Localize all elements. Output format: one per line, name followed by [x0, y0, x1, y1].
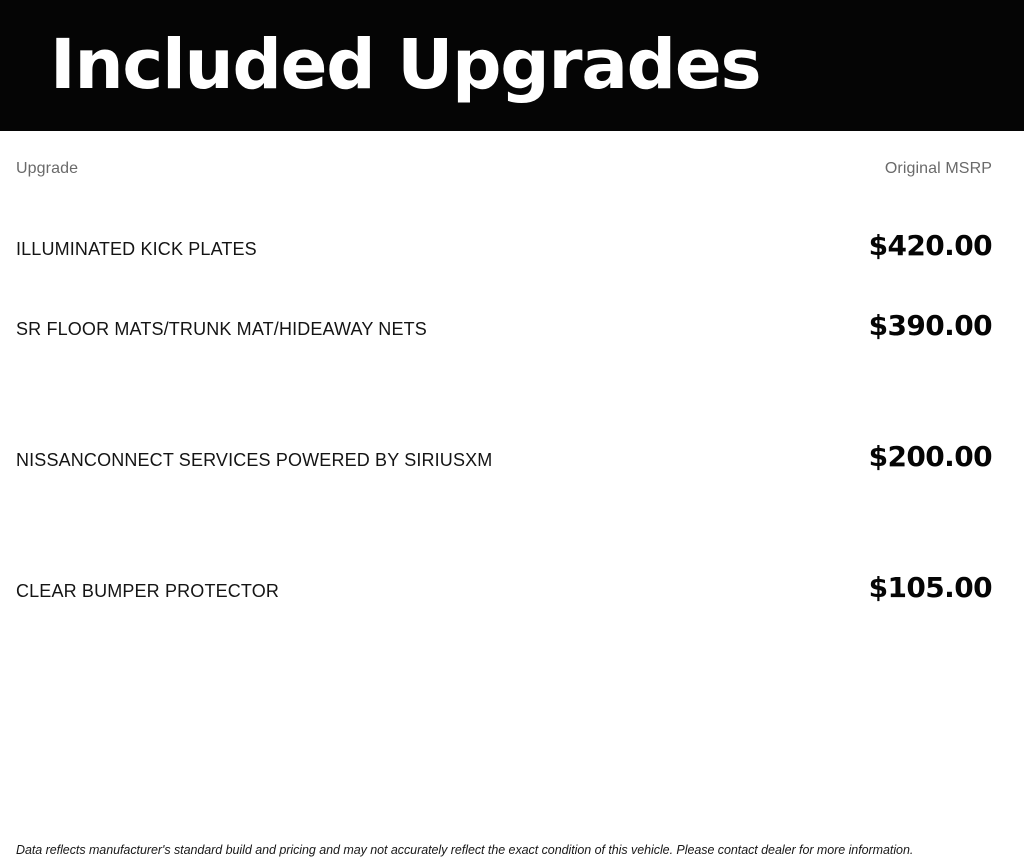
disclaimer-text: Data reflects manufacturer's standard bu…	[16, 843, 992, 858]
column-header-original-msrp: Original MSRP	[885, 160, 992, 178]
upgrade-price: $420.00	[869, 229, 992, 262]
upgrade-price: $105.00	[869, 571, 992, 604]
table-row: CLEAR BUMPER PROTECTOR $105.00	[16, 571, 992, 702]
upgrades-row-list: ILLUMINATED KICK PLATES $420.00 SR FLOOR…	[16, 178, 992, 702]
upgrade-name: CLEAR BUMPER PROTECTOR	[16, 581, 279, 602]
upgrade-name: ILLUMINATED KICK PLATES	[16, 239, 257, 260]
page-header-banner: Included Upgrades	[0, 0, 1024, 131]
table-row: NISSANCONNECT SERVICES POWERED BY SIRIUS…	[16, 440, 992, 571]
table-row: ILLUMINATED KICK PLATES $420.00	[16, 178, 992, 309]
column-header-upgrade: Upgrade	[16, 160, 78, 178]
page-title: Included Upgrades	[50, 31, 760, 100]
included-upgrades-page: Included Upgrades Upgrade Original MSRP …	[0, 0, 1024, 768]
upgrades-table: Upgrade Original MSRP ILLUMINATED KICK P…	[0, 131, 1024, 768]
upgrade-name: SR FLOOR MATS/TRUNK MAT/HIDEAWAY NETS	[16, 319, 427, 340]
upgrade-price: $200.00	[869, 440, 992, 473]
upgrade-name: NISSANCONNECT SERVICES POWERED BY SIRIUS…	[16, 450, 492, 471]
upgrade-price: $390.00	[869, 309, 992, 342]
table-row: SR FLOOR MATS/TRUNK MAT/HIDEAWAY NETS $3…	[16, 309, 992, 440]
table-column-headers: Upgrade Original MSRP	[16, 131, 992, 178]
